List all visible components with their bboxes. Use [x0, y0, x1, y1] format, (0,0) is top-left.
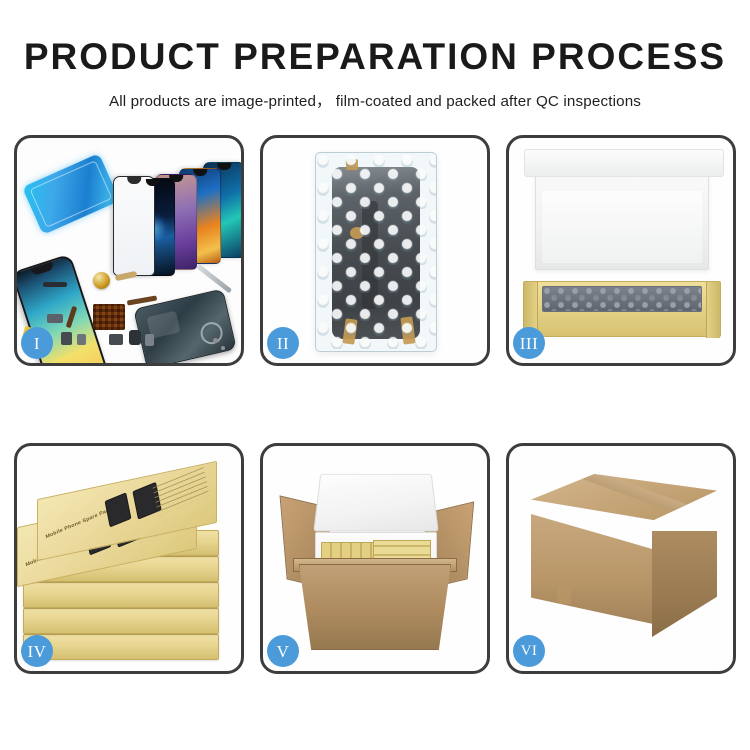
step-3-illustration — [509, 138, 733, 363]
component-4-icon — [129, 330, 141, 345]
antenna-strip-icon — [43, 282, 67, 287]
step-badge-5: V — [267, 635, 299, 667]
process-step-panel-2[interactable]: II — [260, 135, 490, 366]
carton-tab-2 — [557, 636, 571, 654]
carton-side-face — [652, 531, 717, 637]
step-2-illustration — [263, 138, 487, 363]
process-step-grid: I II — [14, 135, 746, 675]
header: PRODUCT PREPARATION PROCESS All products… — [0, 0, 750, 111]
step-badge-6: VI — [513, 635, 545, 667]
process-step-panel-3[interactable]: III — [506, 135, 736, 366]
bubble-wrap-bag — [315, 152, 437, 352]
phone-screen-1-icon — [113, 176, 155, 276]
component-1-icon — [61, 332, 72, 345]
packing-tape-icon — [563, 461, 697, 519]
foam-sheet-icon — [535, 160, 709, 270]
speaker-module-icon — [93, 272, 110, 289]
stacked-box-2 — [23, 608, 219, 634]
carton-body — [299, 564, 451, 650]
step-6-illustration — [509, 446, 733, 671]
bubble-texture-layer — [316, 153, 436, 351]
adhesive-sticker-icon — [22, 153, 120, 235]
page-subtitle: All products are image-printed， film-coa… — [0, 89, 750, 111]
process-step-panel-1[interactable]: I — [14, 135, 244, 366]
step-1-illustration — [17, 138, 241, 363]
product-preparation-infographic: PRODUCT PREPARATION PROCESS All products… — [0, 0, 750, 750]
phone-display-fan — [117, 160, 241, 275]
process-step-panel-4[interactable]: Mobile Phone Spare Parts Mobile Phone Sp… — [14, 443, 244, 674]
styrofoam-lid-icon — [313, 474, 438, 532]
step-5-illustration — [263, 446, 487, 671]
yellow-box-base-icon — [523, 281, 721, 337]
carton-tab-1 — [557, 586, 571, 604]
step-4-illustration: Mobile Phone Spare Parts Mobile Phone Sp… — [17, 446, 241, 671]
sealed-carton-icon — [531, 474, 717, 632]
connector-grid-icon — [93, 304, 125, 330]
process-step-panel-5[interactable]: V — [260, 443, 490, 674]
box-stack: Mobile Phone Spare Parts Mobile Phone Sp… — [23, 462, 235, 660]
step-badge-4: IV — [21, 635, 53, 667]
page-title: PRODUCT PREPARATION PROCESS — [0, 38, 750, 77]
component-6-icon — [145, 334, 154, 346]
bubble-wrapped-contents-icon — [542, 286, 702, 312]
component-5-icon — [47, 314, 63, 323]
step-badge-3: III — [513, 327, 545, 359]
plastic-bag-icon — [315, 152, 437, 352]
step-badge-1: I — [21, 327, 53, 359]
process-step-panel-6[interactable]: VI — [506, 443, 736, 674]
component-2-icon — [77, 334, 86, 345]
screw-1-icon — [213, 338, 218, 343]
stacked-box-3 — [23, 582, 219, 608]
screw-2-icon — [221, 346, 225, 350]
carton-front-face — [531, 514, 653, 624]
component-3-icon — [109, 334, 123, 345]
step-badge-2: II — [267, 327, 299, 359]
box-right-flap — [706, 282, 720, 338]
